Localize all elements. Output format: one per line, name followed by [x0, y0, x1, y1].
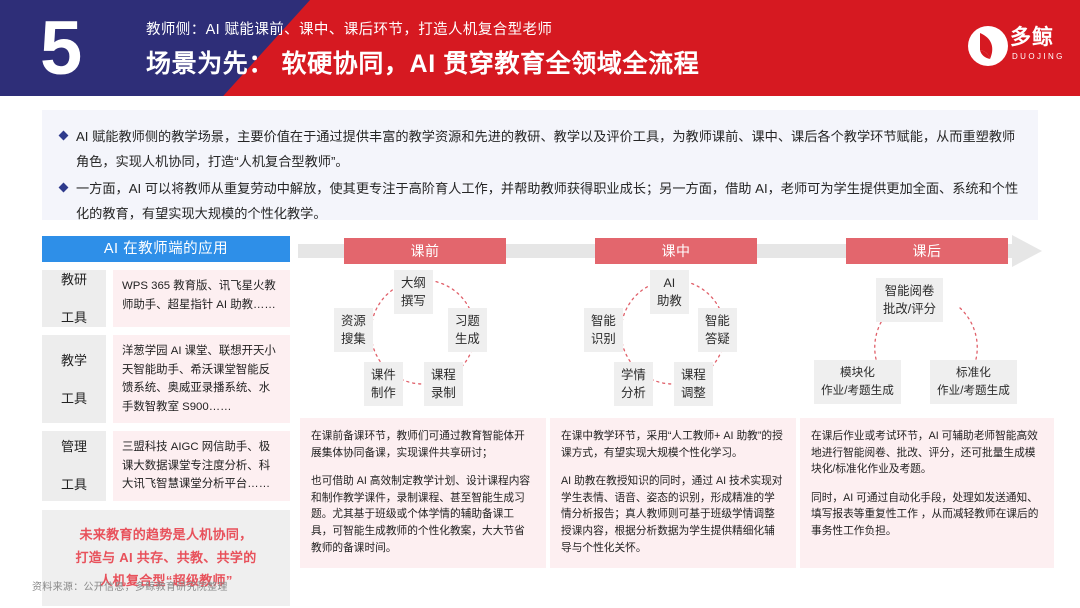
phase-chip-pre-class: 课前 [344, 238, 506, 264]
cycle-diagram-pre-class: 大纲 撰写 习题 生成 课程 录制 课件 制作 资源 搜集 [300, 270, 546, 406]
node-line2: 制作 [371, 386, 396, 400]
future-trend-line2: 打造与 AI 共存、共教、共学的 [50, 546, 282, 569]
node-line1: 课件 [371, 368, 396, 382]
intro-bullet-list: AI 赋能教师侧的教学场景，主要价值在于通过提供丰富的教学资源和先进的教研、教学… [42, 110, 1038, 226]
cycle-diagram-in-class: AI 助教 智能 答疑 课程 调整 学情 分析 智能 识别 [550, 270, 796, 406]
tool-description: WPS 365 教育版、讯飞星火教师助手、超星指针 AI 助教…… [113, 270, 290, 327]
tool-label-line1: 教学 [61, 351, 87, 370]
logo-text-cn: 多鲸 [1010, 26, 1054, 50]
cycle-node: 学情 分析 [614, 362, 653, 406]
tool-label-line2: 工具 [61, 389, 87, 408]
node-line2: 搜集 [341, 332, 366, 346]
cycle-column-post-class: 智能阅卷 批改/评分 标准化 作业/考题生成 模块化 作业/考题生成 [800, 270, 1054, 406]
intro-bullet-text: AI 赋能教师侧的教学场景，主要价值在于通过提供丰富的教学资源和先进的教研、教学… [76, 129, 1015, 169]
node-line2: 作业/考题生成 [937, 384, 1010, 397]
node-line1: 课程 [681, 368, 706, 382]
tool-label-line1: 管理 [61, 437, 87, 456]
node-line2: 助教 [657, 294, 682, 308]
tool-row: 教学 工具 洋葱学园 AI 课堂、联想开天小天智能助手、希沃课堂智能反馈系统、奥… [42, 335, 290, 423]
cycle-column-in-class: AI 助教 智能 答疑 课程 调整 学情 分析 智能 识别 [550, 270, 796, 406]
cycle-column-pre-class: 大纲 撰写 习题 生成 课程 录制 课件 制作 资源 搜集 [300, 270, 546, 406]
node-line2: 识别 [591, 332, 616, 346]
description-post-class: 在课后作业或考试环节，AI 可辅助老师智能高效地进行智能阅卷、批改、评分，还可批… [800, 418, 1054, 568]
tool-label-line2: 工具 [61, 308, 87, 327]
whale-logo-icon [968, 26, 1008, 66]
node-line2: 撰写 [401, 294, 426, 308]
logo-text-en: DUOJING [1012, 52, 1065, 61]
node-line2: 录制 [431, 386, 456, 400]
tool-category-label: 教学 工具 [42, 335, 106, 423]
node-line1: 习题 [455, 314, 480, 328]
source-note: 资料来源：公开信息，多鲸教育研究院整理 [32, 578, 228, 593]
tool-label-line1: 教研 [61, 270, 87, 289]
tool-category-label: 教研 工具 [42, 270, 106, 327]
cycle-node: AI 助教 [650, 270, 689, 314]
phase-timeline: 课前 课中 课后 [298, 238, 1058, 264]
slide-header: 5 教师侧：AI 赋能课前、课中、课后环节，打造人机复合型老师 场景为先： 软硬… [0, 0, 1080, 96]
cycle-node: 课件 制作 [364, 362, 403, 406]
diamond-bullet-icon [59, 183, 69, 193]
phase-chip-post-class: 课后 [846, 238, 1008, 264]
cycle-node: 大纲 撰写 [394, 270, 433, 314]
node-line1: 学情 [621, 368, 646, 382]
left-panel-heading: AI 在教师端的应用 [42, 236, 290, 262]
intro-bullet-2: 一方面，AI 可以将教师从重复劳动中解放，使其更专注于高阶育人工作，并帮助教师获… [58, 176, 1020, 226]
cycle-node: 课程 录制 [424, 362, 463, 406]
node-line2: 生成 [455, 332, 480, 346]
node-line1: 智能阅卷 [885, 284, 935, 298]
node-line2: 答疑 [705, 332, 730, 346]
tool-label-line2: 工具 [61, 475, 87, 494]
brand-logo: 多鲸 DUOJING [968, 24, 1064, 72]
node-line1: 智能 [705, 314, 730, 328]
slide-number: 5 [40, 4, 80, 94]
page-title: 场景为先： 软硬协同，AI 贯穿教育全领域全流程 [146, 44, 699, 80]
node-line1: AI [664, 276, 676, 290]
tool-category-label: 管理 工具 [42, 431, 106, 501]
node-line1: 智能 [591, 314, 616, 328]
description-paragraph: 同时，AI 可通过自动化手段，处理如发送通知、填写报表等重复性工作 ，从而减轻教… [811, 490, 1043, 540]
node-line2: 调整 [681, 386, 706, 400]
description-paragraph: 在课前备课环节，教师们可通过教育智能体开展集体协同备课，实现课件共享研讨； [311, 428, 535, 461]
description-paragraph: 在课中教学环节，采用“人工教师+ AI 助教”的授课方式，有望实现大规模个性化学… [561, 428, 785, 461]
node-line2: 分析 [621, 386, 646, 400]
cycle-node: 模块化 作业/考题生成 [814, 360, 901, 404]
teacher-tools-panel: AI 在教师端的应用 教研 工具 WPS 365 教育版、讯飞星火教师助手、超星… [42, 236, 290, 606]
description-pre-class: 在课前备课环节，教师们可通过教育智能体开展集体协同备课，实现课件共享研讨； 也可… [300, 418, 546, 568]
cycle-node: 课程 调整 [674, 362, 713, 406]
node-line2: 作业/考题生成 [821, 384, 894, 397]
intro-panel: AI 赋能教师侧的教学场景，主要价值在于通过提供丰富的教学资源和先进的教研、教学… [42, 110, 1038, 220]
node-line1: 大纲 [401, 276, 426, 290]
phase-chip-in-class: 课中 [595, 238, 757, 264]
description-paragraph: AI 助教在教授知识的同时，通过 AI 技术实现对学生表情、语音、姿态的识别，形… [561, 473, 785, 556]
tool-row: 教研 工具 WPS 365 教育版、讯飞星火教师助手、超星指针 AI 助教…… [42, 270, 290, 327]
description-paragraph: 也可借助 AI 高效制定教学计划、设计课程内容和制作教学课件，录制课程、甚至智能… [311, 473, 535, 556]
cycle-node: 智能阅卷 批改/评分 [876, 278, 943, 322]
header-subtitle: 教师侧：AI 赋能课前、课中、课后环节，打造人机复合型老师 [146, 18, 552, 39]
node-line2: 批改/评分 [883, 302, 936, 316]
cycle-node: 智能 答疑 [698, 308, 737, 352]
node-line1: 模块化 [840, 366, 875, 379]
slide-root: 5 教师侧：AI 赋能课前、课中、课后环节，打造人机复合型老师 场景为先： 软硬… [0, 0, 1080, 608]
tool-row: 管理 工具 三盟科技 AIGC 网信助手、极课大数据课堂专注度分析、科大讯飞智慧… [42, 431, 290, 501]
tool-description: 洋葱学园 AI 课堂、联想开天小天智能助手、希沃课堂智能反馈系统、奥威亚录播系统… [113, 335, 290, 423]
node-line1: 资源 [341, 314, 366, 328]
cycle-node: 资源 搜集 [334, 308, 373, 352]
intro-bullet-1: AI 赋能教师侧的教学场景，主要价值在于通过提供丰富的教学资源和先进的教研、教学… [58, 124, 1020, 174]
node-line1: 课程 [431, 368, 456, 382]
cycle-node: 智能 识别 [584, 308, 623, 352]
future-trend-line1: 未来教育的趋势是人机协同， [50, 523, 282, 546]
tool-description: 三盟科技 AIGC 网信助手、极课大数据课堂专注度分析、科大讯飞智慧课堂分析平台… [113, 431, 290, 501]
cycle-node: 标准化 作业/考题生成 [930, 360, 1017, 404]
diamond-bullet-icon [59, 131, 69, 141]
node-line1: 标准化 [956, 366, 991, 379]
timeline-arrow-icon [1012, 235, 1042, 267]
cycle-diagram-post-class: 智能阅卷 批改/评分 标准化 作业/考题生成 模块化 作业/考题生成 [800, 270, 1054, 406]
intro-bullet-text: 一方面，AI 可以将教师从重复劳动中解放，使其更专注于高阶育人工作，并帮助教师获… [76, 181, 1018, 221]
description-paragraph: 在课后作业或考试环节，AI 可辅助老师智能高效地进行智能阅卷、批改、评分，还可批… [811, 428, 1043, 478]
description-in-class: 在课中教学环节，采用“人工教师+ AI 助教”的授课方式，有望实现大规模个性化学… [550, 418, 796, 568]
cycle-node: 习题 生成 [448, 308, 487, 352]
